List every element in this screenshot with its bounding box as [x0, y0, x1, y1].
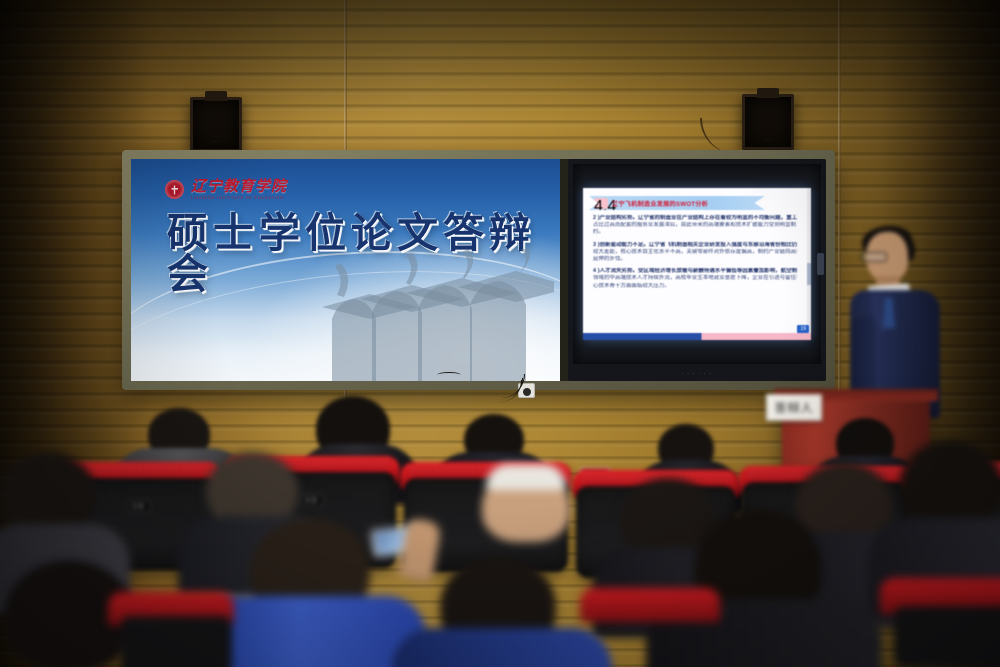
slide-page-number: 19	[797, 325, 809, 333]
slide-line: 领域的中高端技术人才持续外流，高校毕业生本地就业意愿下降，企业在引进与留住核	[593, 275, 797, 282]
display-frame: 辽宁教育学院 LIAONING INSTITUTE OF EDUCATION 硕…	[122, 150, 835, 390]
speaker-brand-label: ·····	[763, 137, 772, 142]
projection-screen-banner: 辽宁教育学院 LIAONING INSTITUTE OF EDUCATION 硕…	[131, 159, 560, 381]
podium-nameplate-label: 答辩人	[774, 399, 813, 416]
slide-line: 较大差距，核心技术自主化水平不高，关键零部件对外依存度偏高，制约产业链向高端	[593, 249, 797, 256]
slide-footer-bar	[583, 333, 811, 340]
display-frame-inner: 辽宁教育学院 LIAONING INSTITUTE OF EDUCATION 硕…	[131, 159, 826, 381]
slide-line: 3 )创新驱动能力不足。辽宁省飞机制造相关企业研发投入强度与东部沿海省份相比仍有	[593, 242, 797, 249]
university-logo: 辽宁教育学院 LIAONING INSTITUTE OF EDUCATION	[165, 179, 287, 200]
attendee-head	[900, 440, 1000, 530]
speaker-left: ·····	[190, 97, 242, 152]
attendee-blue-jacket	[392, 628, 612, 667]
interactive-flat-panel[interactable]: 4.4 辽宁飞机制造业发展的SWOT分析 2 )产业结构劣势。辽宁省的制造业在产…	[568, 159, 826, 381]
podium-nameplate: 答辩人	[766, 394, 822, 421]
seat-number: 08	[128, 500, 151, 513]
speaker-bracket-icon	[205, 91, 227, 101]
seat-headrest[interactable]	[580, 588, 720, 622]
speaker-bracket-icon	[757, 88, 779, 98]
seat-back[interactable]	[120, 616, 232, 667]
panel-side-button[interactable]	[817, 253, 824, 275]
slide-paragraph: 4 )人才流失劣势。受区域经济增长放缓与薪酬待遇水平偏低等因素叠加影响，航空制造…	[593, 268, 797, 290]
slide-title-ribbon: 4.4 辽宁飞机制造业发展的SWOT分析	[589, 196, 765, 210]
university-name-en: LIAONING INSTITUTE OF EDUCATION	[191, 196, 287, 200]
white-cap-icon	[486, 464, 566, 490]
slide-line: 2 )产业结构劣势。辽宁省的制造业在产业结构上存在着较为明显的不均衡问题，重工业	[593, 215, 797, 222]
slide-paragraph: 2 )产业结构劣势。辽宁省的制造业在产业结构上存在着较为明显的不均衡问题，重工业…	[593, 215, 797, 237]
slide-line: 约。	[593, 229, 797, 236]
speaker-right: ·····	[742, 94, 794, 150]
glasses-icon	[861, 252, 887, 262]
university-seal-icon	[165, 180, 184, 199]
wall-top-shadow	[0, 0, 1000, 120]
graduate-silhouette-icon	[314, 249, 554, 381]
slide-body-text: 2 )产业结构劣势。辽宁省的制造业在产业结构上存在着较为明显的不均衡问题，重工业…	[593, 215, 797, 295]
panel-brand-label: · · · · · ·	[682, 371, 712, 377]
slide-line: 4 )人才流失劣势。受区域经济增长放缓与薪酬待遇水平偏低等因素叠加影响，航空制造	[593, 268, 797, 275]
cable-run-4	[437, 372, 461, 378]
seat-number: 09	[301, 494, 324, 507]
slide-line: 延伸的步伐。	[593, 256, 797, 263]
speaker-brand-label: ·····	[211, 139, 220, 144]
slide-title: 辽宁飞机制造业发展的SWOT分析	[612, 199, 708, 208]
slide-scrollbar[interactable]	[807, 188, 811, 333]
slide-paragraph: 3 )创新驱动能力不足。辽宁省飞机制造相关企业研发投入强度与东部沿海省份相比仍有…	[593, 242, 797, 264]
slide-section-badge: 4.4	[594, 198, 608, 209]
presentation-slide: 4.4 辽宁飞机制造业发展的SWOT分析 2 )产业结构劣势。辽宁省的制造业在产…	[583, 188, 811, 340]
auditorium-scene: ····· ····· 辽宁教育学院 LIAONING INSTITUTE OF…	[0, 0, 1000, 667]
slide-line: 占比过高而配套的服务业发展滞后，由此带来的高端要素和技术扩散能力受到明显制	[593, 222, 797, 229]
slide-line: 心技术骨干方面面临较大压力。	[593, 283, 797, 290]
device-gap	[560, 159, 568, 381]
university-name-cn: 辽宁教育学院	[191, 179, 287, 194]
seat-back[interactable]	[894, 606, 1000, 667]
